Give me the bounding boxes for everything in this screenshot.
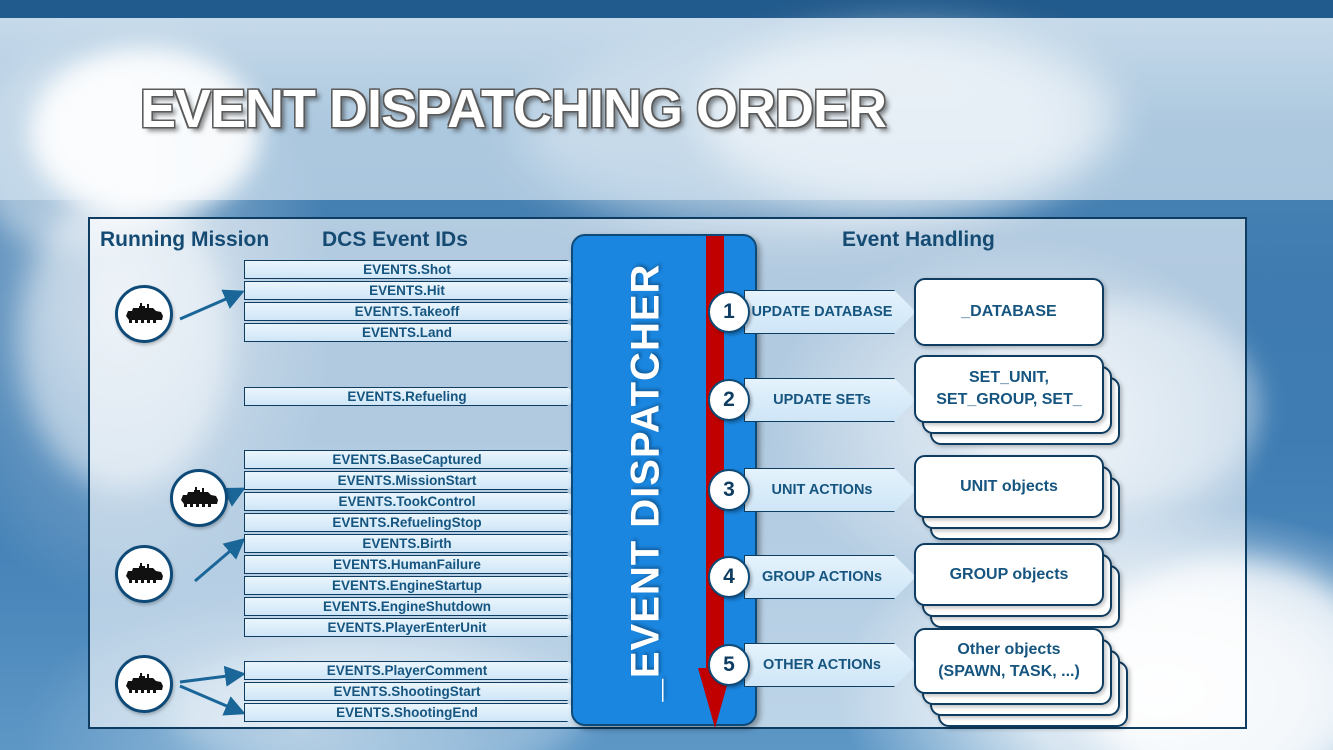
event-bar[interactable]: EVENTS.Refueling [244, 387, 580, 406]
step-number-badge: 2 [708, 379, 750, 421]
page-title: EVENT DISPATCHING ORDER [140, 78, 886, 140]
result-card-line1: GROUP objects [950, 564, 1069, 586]
armored-vehicle-icon [115, 655, 173, 713]
armored-vehicle-glyph [123, 561, 165, 587]
action-arrow[interactable]: UPDATE DATABASE [744, 290, 916, 334]
armored-vehicle-icon [170, 469, 228, 527]
event-bar[interactable]: EVENTS.BaseCaptured [244, 450, 580, 469]
dispatcher-label: _EVENT DISPATCHER [624, 263, 669, 701]
armored-vehicle-glyph [178, 485, 220, 511]
armored-vehicle-icon [115, 285, 173, 343]
action-arrow[interactable]: OTHER ACTIONs [744, 643, 916, 687]
armored-vehicle-glyph [123, 301, 165, 327]
event-bar[interactable]: EVENTS.EngineStartup [244, 576, 580, 595]
step-number-badge: 5 [708, 644, 750, 686]
result-card-line1: SET_UNIT, [969, 367, 1049, 389]
event-bar[interactable]: EVENTS.EngineShutdown [244, 597, 580, 616]
event-bar[interactable]: EVENTS.Takeoff [244, 302, 580, 321]
result-card[interactable]: UNIT objects [914, 455, 1104, 518]
event-bar[interactable]: EVENTS.Birth [244, 534, 580, 553]
action-arrow[interactable]: GROUP ACTIONs [744, 555, 916, 599]
event-bar[interactable]: EVENTS.MissionStart [244, 471, 580, 490]
event-bar[interactable]: EVENTS.RefuelingStop [244, 513, 580, 532]
event-bar[interactable]: EVENTS.TookControl [244, 492, 580, 511]
column-header-dcs-event-ids: DCS Event IDs [322, 228, 468, 252]
result-card[interactable]: GROUP objects [914, 543, 1104, 606]
result-card-line2: SET_GROUP, SET_ [936, 389, 1082, 411]
result-card[interactable]: Other objects (SPAWN, TASK, ...) [914, 628, 1104, 694]
event-bar[interactable]: EVENTS.PlayerEnterUnit [244, 618, 580, 637]
step-number-badge: 4 [708, 556, 750, 598]
event-bar[interactable]: EVENTS.HumanFailure [244, 555, 580, 574]
column-header-event-handling: Event Handling [842, 228, 995, 252]
diagram-panel: Running Mission DCS Event IDs Event Hand… [88, 217, 1247, 729]
result-card-line2: (SPAWN, TASK, ...) [938, 661, 1080, 683]
event-bar[interactable]: EVENTS.Land [244, 323, 580, 342]
event-bar[interactable]: EVENTS.Shot [244, 260, 580, 279]
event-bar[interactable]: EVENTS.ShootingStart [244, 682, 580, 701]
event-bar[interactable]: EVENTS.ShootingEnd [244, 703, 580, 722]
action-arrow[interactable]: UPDATE SETs [744, 378, 916, 422]
action-arrow[interactable]: UNIT ACTIONs [744, 468, 916, 512]
step-number-badge: 3 [708, 469, 750, 511]
result-card-line1: Other objects [957, 639, 1060, 661]
top-accent-bar [0, 0, 1333, 18]
step-number-badge: 1 [708, 291, 750, 333]
result-card[interactable]: SET_UNIT, SET_GROUP, SET_ [914, 355, 1104, 423]
result-card-line1: _DATABASE [961, 301, 1056, 323]
result-card-line1: UNIT objects [960, 476, 1058, 498]
armored-vehicle-glyph [123, 671, 165, 697]
event-bar[interactable]: EVENTS.Hit [244, 281, 580, 300]
column-header-running-mission: Running Mission [100, 228, 269, 252]
armored-vehicle-icon [115, 545, 173, 603]
event-bar[interactable]: EVENTS.PlayerComment [244, 661, 580, 680]
slide-canvas: EVENT DISPATCHING ORDER Running Mission … [0, 0, 1333, 750]
result-card[interactable]: _DATABASE [914, 278, 1104, 346]
